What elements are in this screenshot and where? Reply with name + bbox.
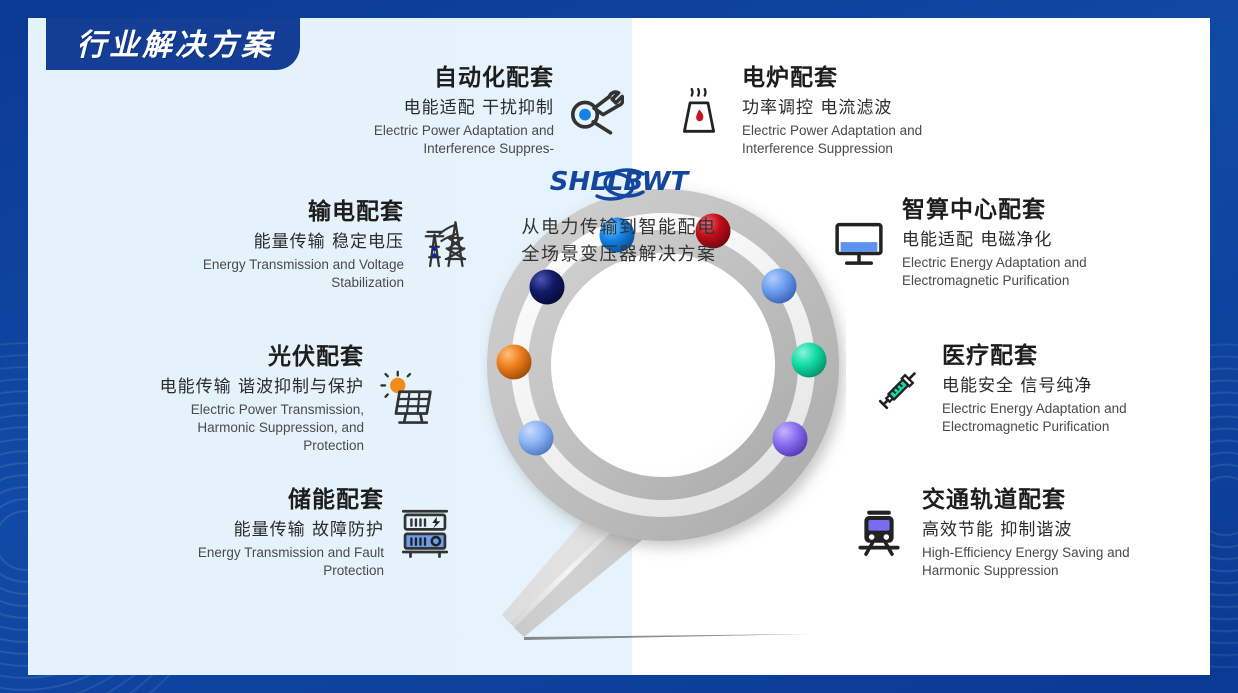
item-english: Electric Power Transmission, Harmonic Su… (134, 401, 364, 454)
sphere-red (696, 214, 731, 249)
item-subtitle: 能量传输 稳定电压 (254, 230, 404, 255)
item-english: Electric Energy Adaptation and Electroma… (902, 254, 1132, 290)
sphere-sky (519, 421, 554, 456)
item-subtitle: 能量传输 故障防护 (234, 518, 384, 543)
item-subtitle: 电能传输 谐波抑制与保护 (160, 375, 364, 400)
item-english: Energy Transmission and Voltage Stabiliz… (174, 256, 404, 292)
sphere-light-blue (762, 269, 797, 304)
item-english: Energy Transmission and Fault Protection (166, 544, 384, 580)
solar-panel-icon (374, 368, 436, 430)
handle-shadow (524, 634, 810, 640)
magnifier-graphic (480, 182, 846, 642)
badge-left-block (46, 18, 80, 70)
battery-rack-icon (394, 502, 456, 564)
item-title: 自动化配套 (434, 64, 554, 93)
item-subtitle: 功率调控 电流滤波 (742, 96, 892, 121)
item-title: 储能配套 (288, 486, 384, 515)
sphere-teal (792, 343, 827, 378)
item-english: Electric Power Adaptation and Interferen… (742, 122, 972, 158)
syringe-icon (868, 358, 930, 420)
item-english: Electric Energy Adaptation and Electroma… (942, 400, 1172, 436)
item-title: 医疗配套 (942, 342, 1038, 371)
section-title-label: 行业解决方案 (76, 20, 274, 64)
item-english: Electric Power Adaptation and Interferen… (324, 122, 554, 158)
sphere-navy (530, 270, 565, 305)
item-subtitle: 电能安全 信号纯净 (942, 374, 1092, 399)
item-title: 交通轨道配套 (922, 486, 1066, 515)
item-power-transmission[interactable]: 输电配套 能量传输 稳定电压 Energy Transmission and V… (136, 198, 476, 292)
item-subtitle: 电能适配 电磁净化 (902, 228, 1052, 253)
slide-canvas: 行业解决方案 (28, 18, 1210, 675)
item-title: 输电配套 (308, 198, 404, 227)
item-energy-storage[interactable]: 储能配套 能量传输 故障防护 Energy Transmission and F… (166, 486, 456, 580)
sphere-orange (497, 345, 532, 380)
furnace-icon (668, 80, 730, 142)
item-medical[interactable]: 医疗配套 电能安全 信号纯净 Electric Energy Adaptatio… (868, 342, 1172, 436)
item-title: 光伏配套 (268, 343, 364, 372)
item-title: 智算中心配套 (902, 196, 1046, 225)
item-automation[interactable]: 自动化配套 电能适配 干扰抑制 Electric Power Adaptatio… (136, 64, 626, 158)
item-title: 电炉配套 (742, 64, 838, 93)
transmission-tower-icon (414, 214, 476, 276)
item-subtitle: 电能适配 干扰抑制 (404, 96, 554, 121)
wrench-gear-icon (564, 80, 626, 142)
train-icon (848, 502, 910, 564)
sphere-purple (773, 422, 808, 457)
item-subtitle: 高效节能 抑制谐波 (922, 518, 1072, 543)
section-title-badge: 行业解决方案 (46, 18, 300, 70)
sphere-blue (600, 218, 635, 253)
magnifier-rings (487, 189, 839, 541)
item-english: High-Efficiency Energy Saving and Harmon… (922, 544, 1152, 580)
item-electric-furnace[interactable]: 电炉配套 功率调控 电流滤波 Electric Power Adaptation… (668, 64, 972, 158)
item-rail-transit[interactable]: 交通轨道配套 高效节能 抑制谐波 High-Efficiency Energy … (848, 486, 1152, 580)
item-photovoltaic[interactable]: 光伏配套 电能传输 谐波抑制与保护 Electric Power Transmi… (86, 343, 436, 455)
item-computing-center[interactable]: 智算中心配套 电能适配 电磁净化 Electric Energy Adaptat… (828, 196, 1132, 290)
